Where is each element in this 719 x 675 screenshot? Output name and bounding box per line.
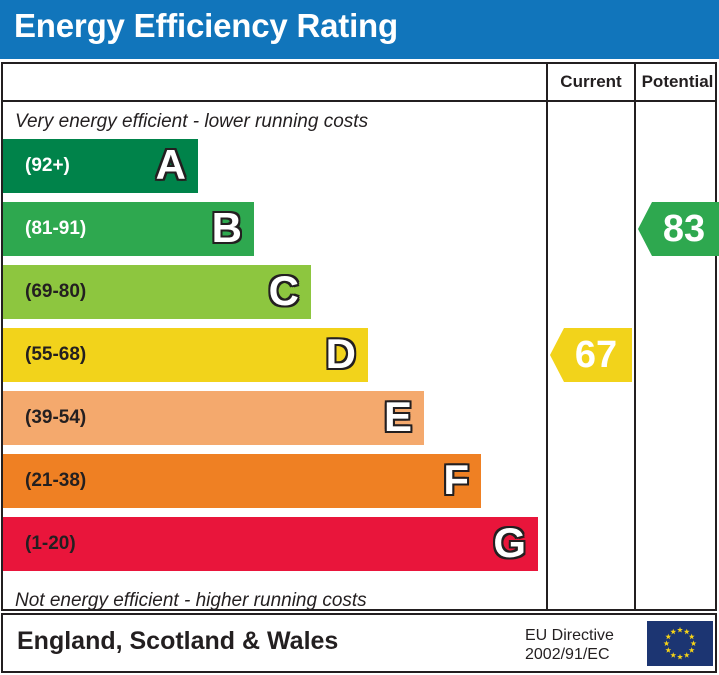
energy-efficiency-rating-chart: Energy Efficiency Rating Current Potenti… xyxy=(0,0,719,675)
band-d: (55-68)D xyxy=(3,328,368,382)
band-e: (39-54)E xyxy=(3,391,424,445)
footer-directive-line2: 2002/91/EC xyxy=(525,645,614,664)
band-letter-b: B xyxy=(212,202,242,256)
column-header-potential: Potential xyxy=(634,64,719,100)
footer-directive-line1: EU Directive xyxy=(525,626,614,645)
eu-flag-icon xyxy=(647,621,713,666)
band-letter-f: F xyxy=(443,454,469,508)
band-g: (1-20)G xyxy=(3,517,538,571)
band-c: (69-80)C xyxy=(3,265,311,319)
band-range-d: (55-68) xyxy=(25,328,86,382)
page-title: Energy Efficiency Rating xyxy=(14,7,398,45)
band-range-b: (81-91) xyxy=(25,202,86,256)
caption-inefficient: Not energy efficient - higher running co… xyxy=(15,590,367,612)
band-letter-d: D xyxy=(326,328,356,382)
rating-value-current: 67 xyxy=(565,336,617,374)
rating-marker-potential: 83 xyxy=(638,202,719,256)
band-letter-g: G xyxy=(493,517,526,571)
column-divider-potential xyxy=(634,102,636,609)
rating-table: Current Potential Very energy efficient … xyxy=(1,62,717,611)
footer-directive: EU Directive 2002/91/EC xyxy=(525,626,614,664)
band-range-a: (92+) xyxy=(25,139,70,193)
column-header-row: Current Potential xyxy=(3,64,715,102)
footer-region-label: England, Scotland & Wales xyxy=(17,627,338,656)
band-a: (92+)A xyxy=(3,139,198,193)
band-range-c: (69-80) xyxy=(25,265,86,319)
column-divider-current xyxy=(546,102,548,609)
band-letter-e: E xyxy=(384,391,412,445)
band-range-f: (21-38) xyxy=(25,454,86,508)
band-list: (92+)A(81-91)B(69-80)C(55-68)D(39-54)E(2… xyxy=(3,139,544,583)
column-header-current: Current xyxy=(546,64,634,100)
band-b: (81-91)B xyxy=(3,202,254,256)
band-range-e: (39-54) xyxy=(25,391,86,445)
caption-efficient: Very energy efficient - lower running co… xyxy=(15,111,368,133)
band-letter-a: A xyxy=(156,139,186,193)
footer-bar: England, Scotland & Wales EU Directive 2… xyxy=(1,613,717,673)
rating-marker-current: 67 xyxy=(550,328,632,382)
band-letter-c: C xyxy=(269,265,299,319)
rating-value-potential: 83 xyxy=(653,210,705,248)
chart-title-bar: Energy Efficiency Rating xyxy=(0,0,719,59)
band-f: (21-38)F xyxy=(3,454,481,508)
band-range-g: (1-20) xyxy=(25,517,76,571)
